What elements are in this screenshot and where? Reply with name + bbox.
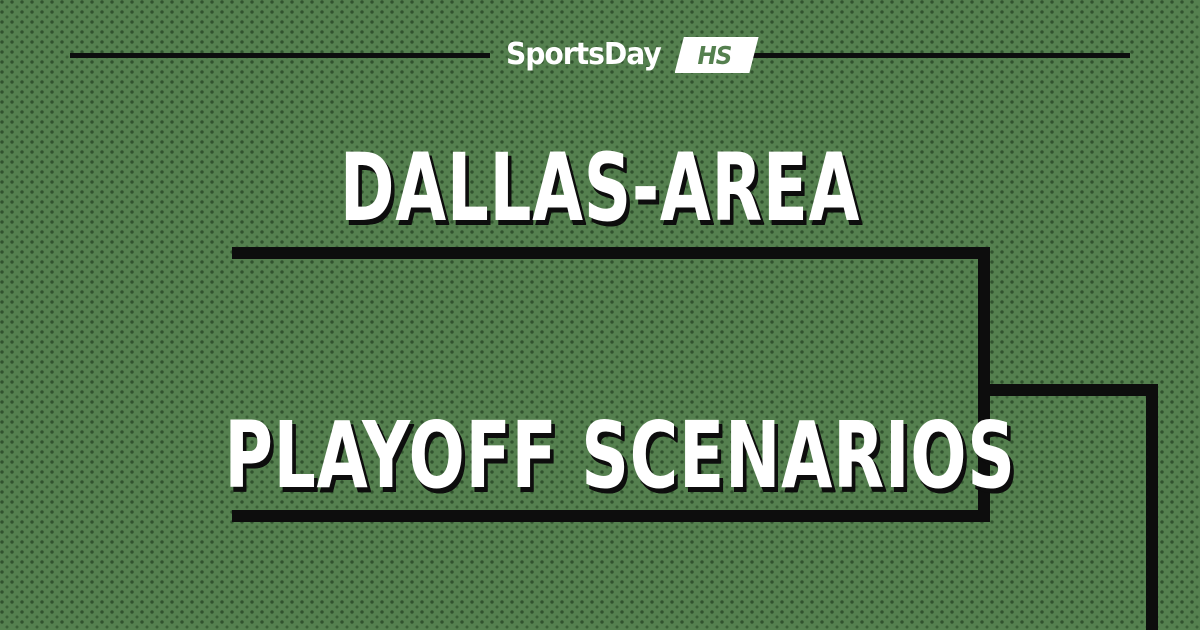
halftone-dot-texture (0, 0, 1200, 630)
hs-badge-label: HS (698, 43, 732, 68)
hs-badge-icon: HS (675, 37, 759, 73)
brand-header: SportsDay HS (0, 34, 1200, 76)
promo-graphic: SportsDay HS DALLAS-AREA PLAYOFF SCENARI… (0, 0, 1200, 630)
headline-line-2: PLAYOFF SCENARIOS (224, 410, 1015, 502)
inner-bracket-top-bar (232, 247, 990, 259)
inner-bracket-bottom-bar (232, 510, 990, 522)
headline-line-1: DALLAS-AREA (340, 142, 860, 236)
outer-bracket-right-bar (1146, 384, 1158, 630)
sportsdayhs-logo[interactable]: SportsDay HS (506, 34, 759, 76)
outer-bracket-top-bar (978, 384, 1158, 396)
brand-wordmark: SportsDay (506, 40, 661, 70)
horizontal-rule-left-icon (70, 53, 490, 58)
horizontal-rule-right-icon (712, 53, 1130, 58)
